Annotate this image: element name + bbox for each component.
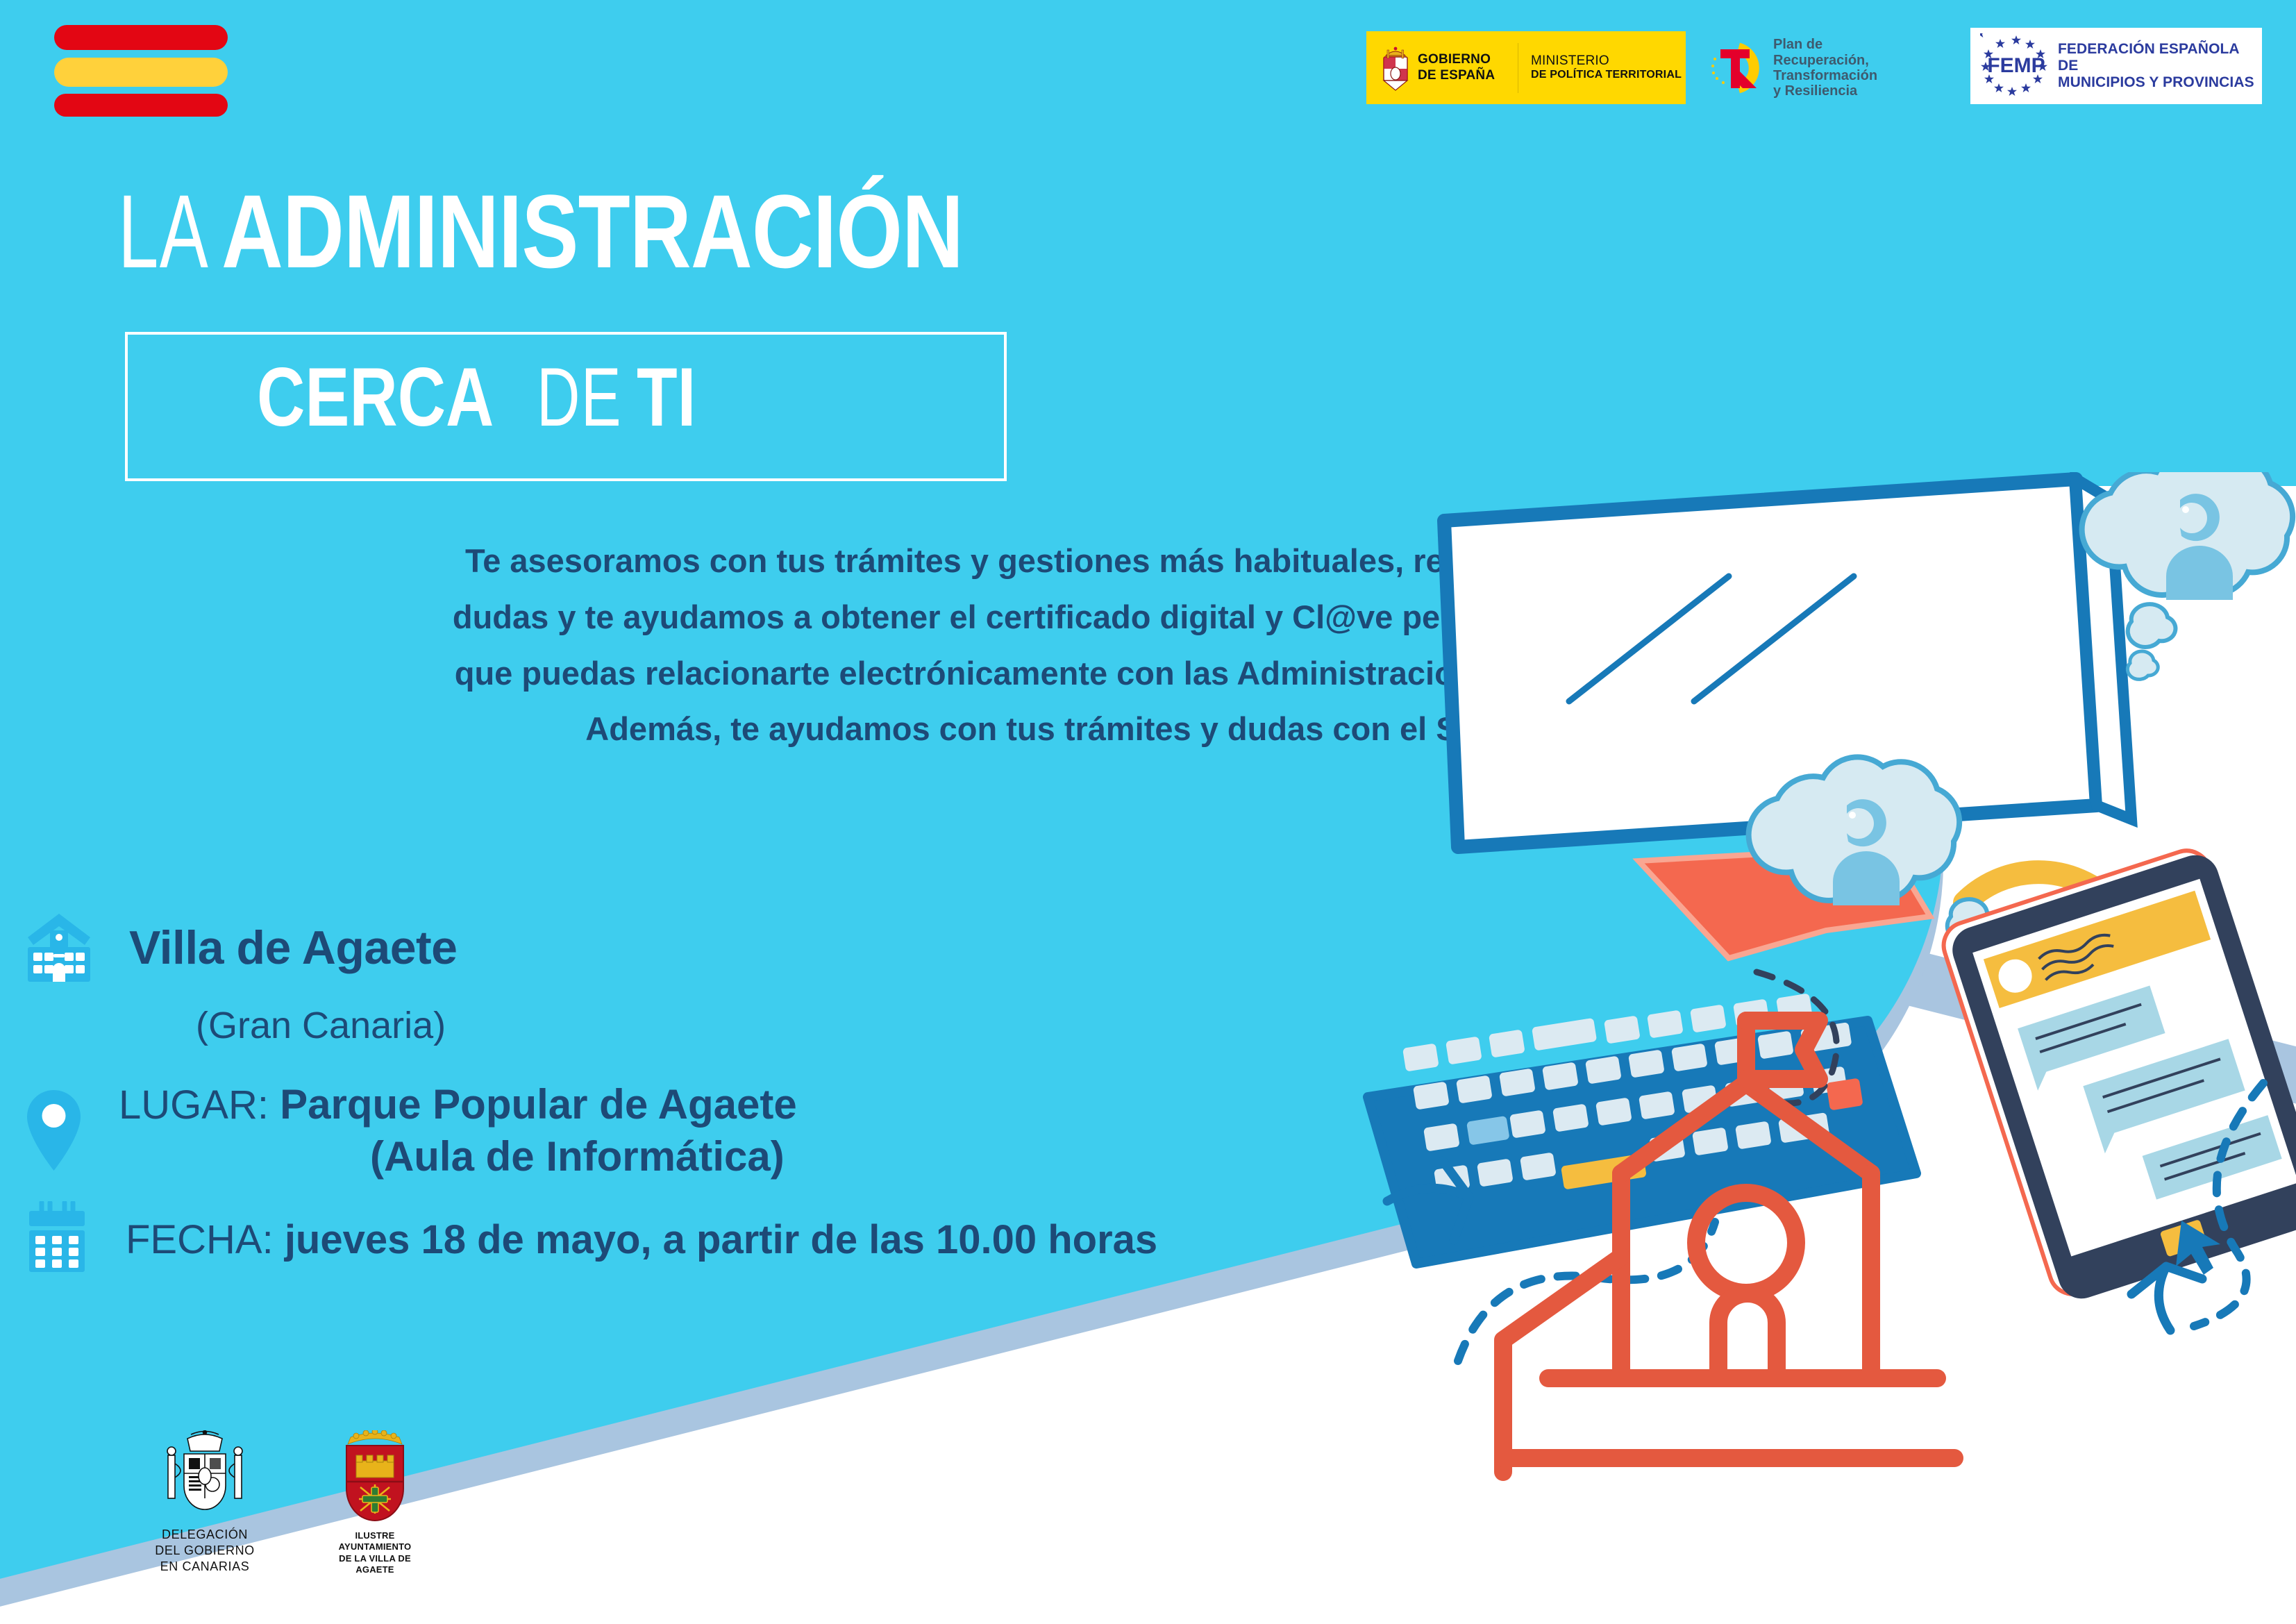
prtr-line1: Plan de Recuperación, [1773, 37, 1869, 67]
ayuntamiento-line1: ILUSTRE AYUNTAMIENTO [339, 1530, 412, 1552]
delegacion-line2: DEL GOBIERNO [155, 1543, 255, 1557]
femp-line1: FEDERACIÓN ESPAÑOLA DE [2058, 41, 2239, 74]
province-name: (Gran Canaria) [196, 1004, 1340, 1047]
delegacion-caption: DELEGACIÓN DEL GOBIERNO EN CANARIAS [139, 1527, 271, 1575]
femp-line2: MUNICIPIOS Y PROVINCIAS [2058, 74, 2254, 90]
ministerio-line2: DE POLÍTICA TERRITORIAL [1531, 69, 1682, 82]
gobierno-line2: DE ESPAÑA [1418, 68, 1495, 83]
lugar-value: Parque Popular de Agaete [280, 1081, 797, 1128]
town-name: Villa de Agaete [129, 921, 457, 975]
ayuntamiento-agaete-logo: ILUSTRE AYUNTAMIENTO DE LA VILLA DE AGAE… [319, 1430, 430, 1575]
femp-logo: FEMP FEDERACIÓN ESPAÑOLA DE MUNICIPIOS Y… [1970, 28, 2262, 104]
footer-logos: DELEGACIÓN DEL GOBIERNO EN CANARIAS [139, 1430, 430, 1575]
body-paragraph: Te asesoramos con tus trámites y gestion… [437, 533, 1680, 757]
page-title: LAADMINISTRACIÓN [118, 179, 1126, 283]
ministerio-line1: MINISTERIO [1531, 53, 1609, 68]
flag-bar-red-bottom [54, 94, 228, 117]
subtitle-word-cerca: CERCA [257, 355, 494, 439]
coat-of-arms-icon [1380, 44, 1411, 92]
flag-bar-yellow [54, 58, 228, 87]
subtitle-word-de: DE [537, 355, 622, 439]
spain-coat-of-arms-icon [153, 1430, 257, 1521]
page-subtitle: CERCADETI [257, 355, 711, 439]
town-row: Villa de Agaete [21, 910, 1340, 986]
fecha-label: FECHA: [126, 1217, 274, 1262]
prtr-label: Plan de Recuperación, Transformación y R… [1773, 37, 1916, 99]
lugar-row: LUGAR: Parque Popular de Agaete (Aula de… [21, 1080, 1340, 1180]
plan-recuperacion-logo: Plan de Recuperación, Transformación y R… [1708, 33, 1916, 103]
prtr-mark-icon [1708, 38, 1768, 98]
ayuntamiento-line2: DE LA VILLA DE AGAETE [339, 1553, 411, 1575]
gobierno-de-espana-logo: GOBIERNO DE ESPAÑA MINISTERIO DE POLÍTIC… [1366, 31, 1686, 104]
ayuntamiento-caption: ILUSTRE AYUNTAMIENTO DE LA VILLA DE AGAE… [319, 1530, 430, 1575]
fecha-value: jueves 18 de mayo, a partir de las 10.00… [285, 1217, 1157, 1262]
prtr-line2: Transformación [1773, 68, 1877, 83]
title-light-word: LA [118, 179, 209, 283]
fecha-row: FECHA: jueves 18 de mayo, a partir de la… [21, 1201, 1340, 1278]
prtr-line3: y Resiliencia [1773, 83, 1857, 99]
spain-flag-icon [54, 25, 235, 115]
gobierno-line1: GOBIERNO [1418, 52, 1491, 67]
poster-root: GOBIERNO DE ESPAÑA MINISTERIO DE POLÍTIC… [0, 0, 2296, 1624]
delegacion-gobierno-logo: DELEGACIÓN DEL GOBIERNO EN CANARIAS [139, 1430, 271, 1575]
delegacion-line1: DELEGACIÓN [162, 1527, 248, 1541]
femp-stars-icon: FEMP [1980, 33, 2052, 99]
gobierno-label: GOBIERNO DE ESPAÑA [1418, 52, 1495, 83]
subtitle-word-ti: TI [637, 355, 696, 439]
flag-bar-red-top [54, 25, 228, 50]
calendar-icon [21, 1201, 94, 1278]
femp-acronym: FEMP [1987, 54, 2045, 77]
agaete-shield-icon [330, 1430, 420, 1524]
event-info-block: Villa de Agaete (Gran Canaria) LUGAR: Pa… [21, 910, 1340, 1278]
title-bold-word: ADMINISTRACIÓN [221, 179, 963, 283]
femp-label: FEDERACIÓN ESPAÑOLA DE MUNICIPIOS Y PROV… [2058, 41, 2262, 91]
town-hall-icon [21, 910, 97, 986]
lugar-value-secondary: (Aula de Informática) [119, 1132, 797, 1180]
lugar-label: LUGAR: [119, 1082, 269, 1128]
location-pin-icon [21, 1087, 87, 1174]
delegacion-line3: EN CANARIAS [160, 1559, 250, 1573]
